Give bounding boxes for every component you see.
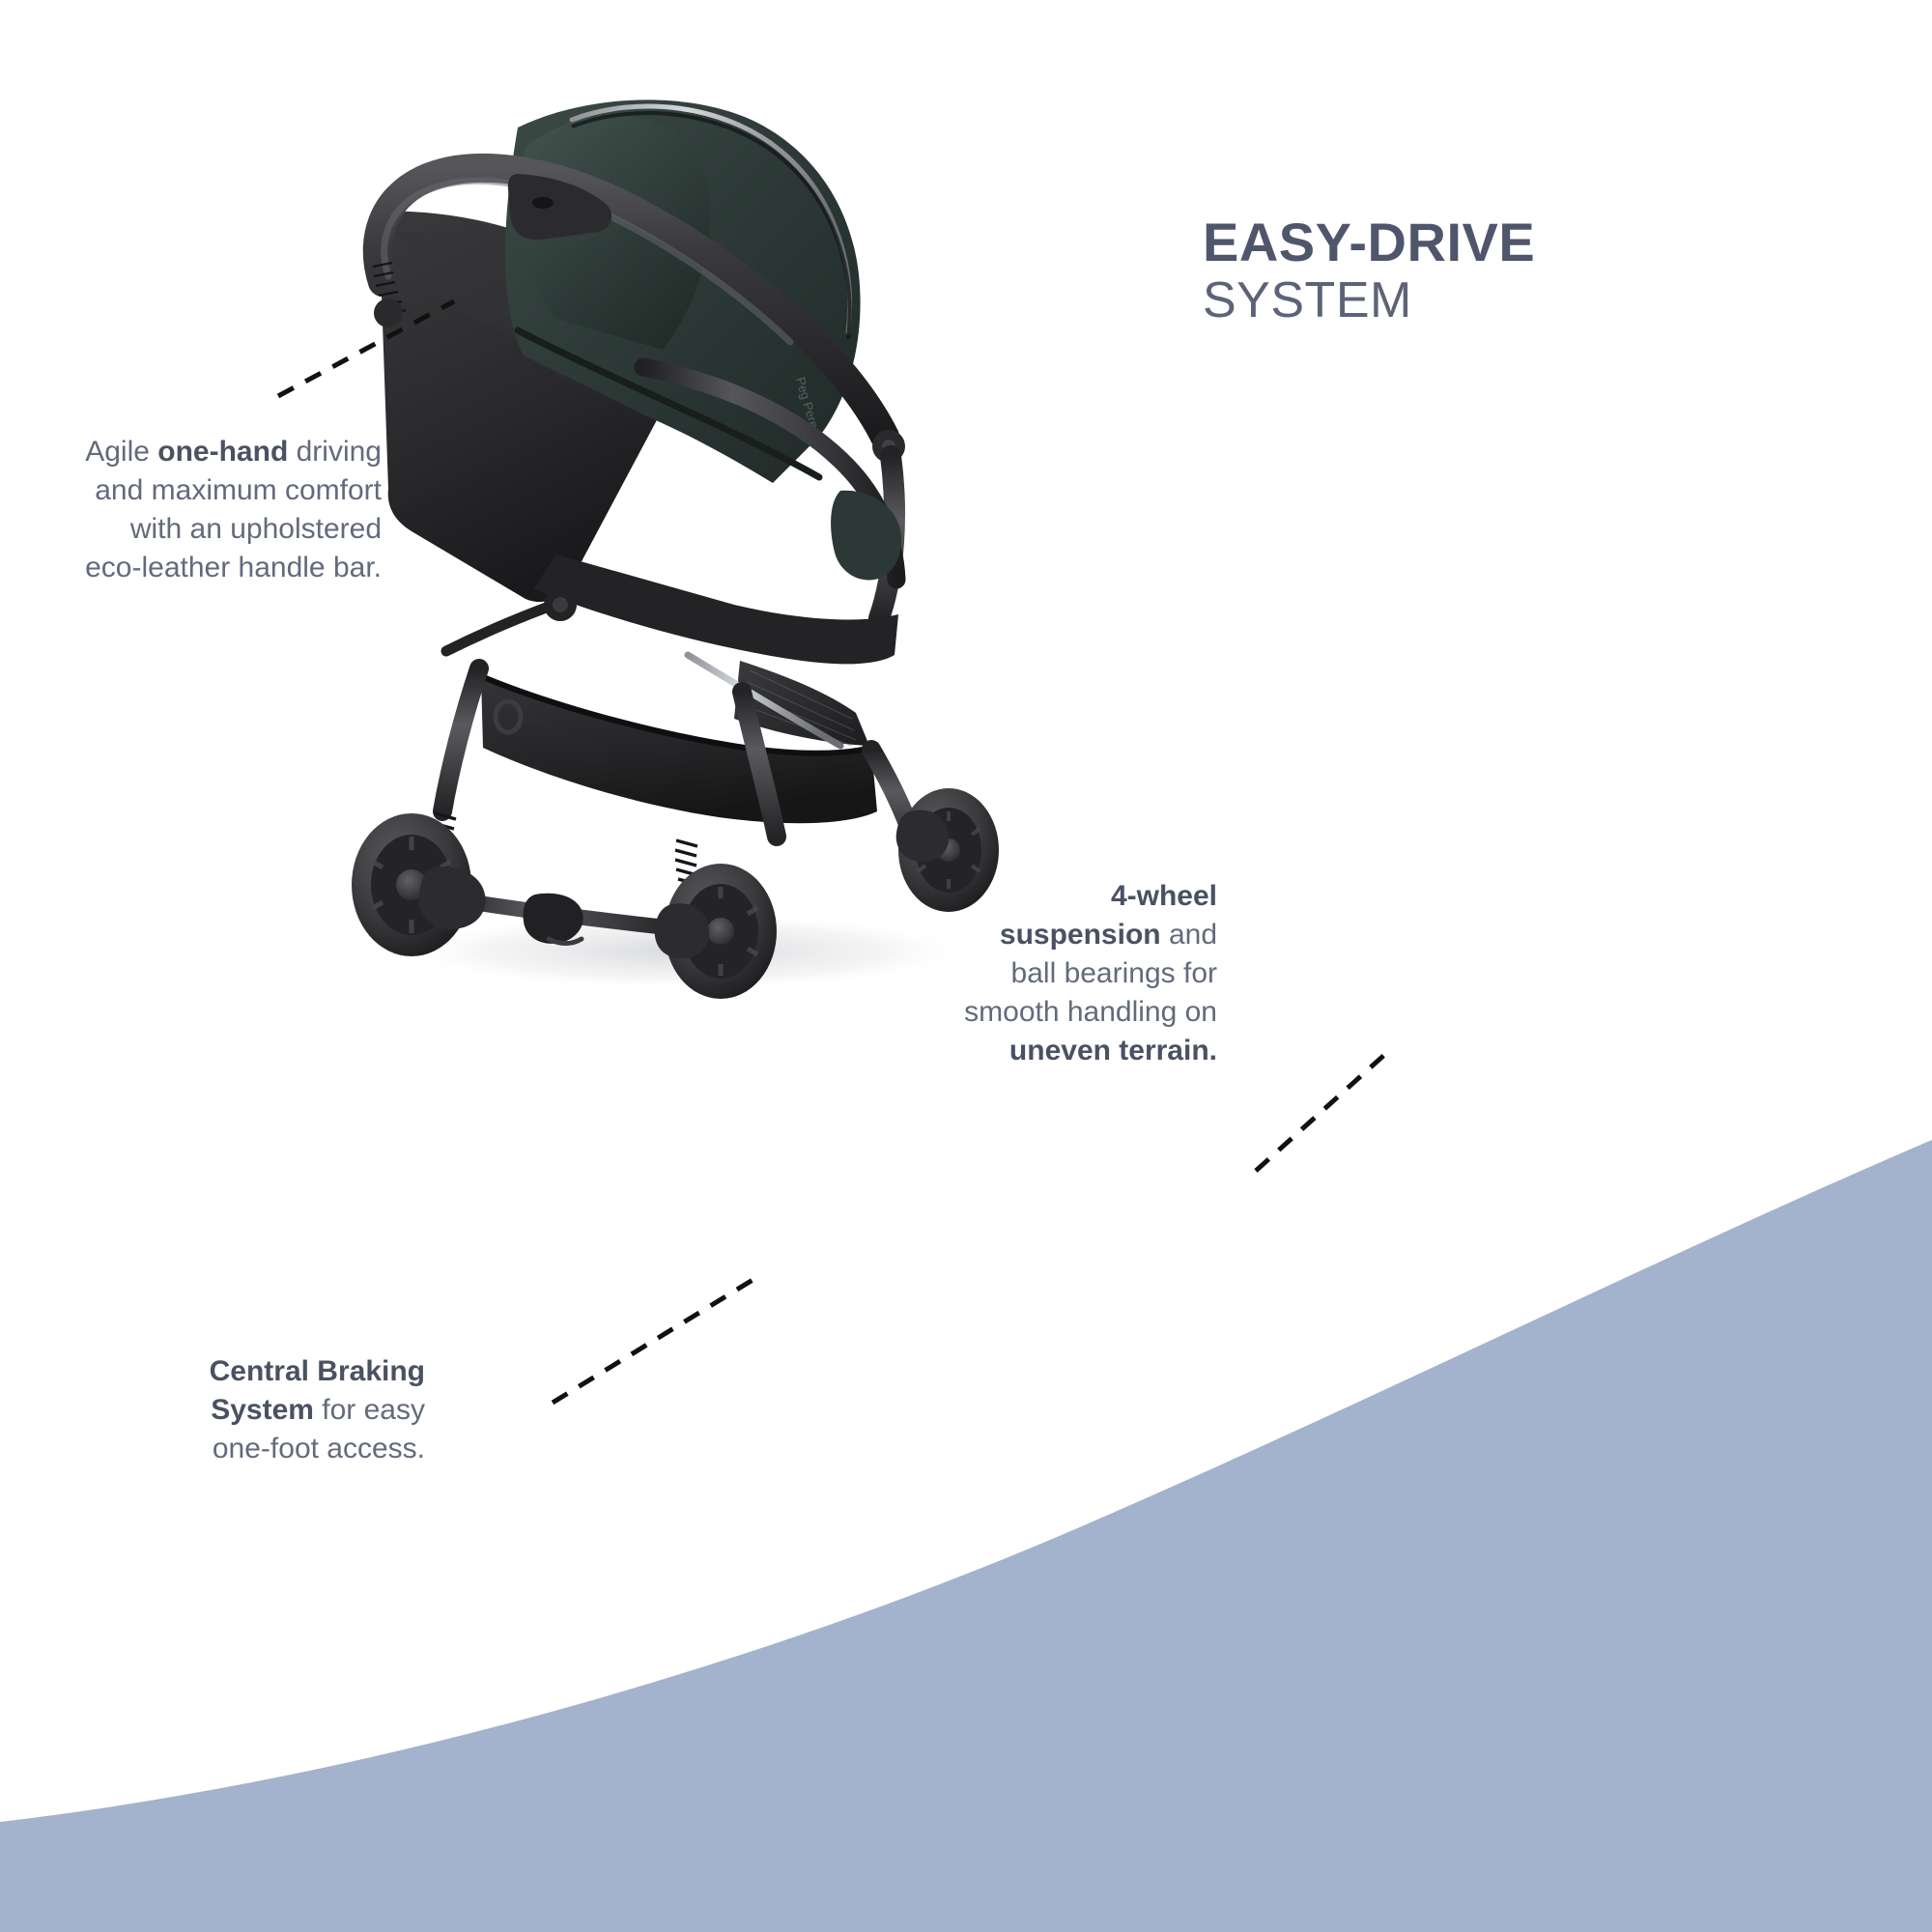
wheel-axle-housing-left	[419, 867, 486, 929]
infographic-canvas: Peg Perego	[0, 0, 1932, 1932]
callout-suspension: 4-wheel suspension and ball bearings for…	[952, 877, 1217, 1069]
recline-strut	[446, 607, 549, 651]
handle-release-button[interactable]	[532, 197, 554, 209]
recline-hinge-inner	[553, 597, 568, 612]
stroller-product-image: Peg Perego	[319, 77, 1053, 1043]
wheel-axle-housing-front	[655, 903, 709, 958]
title-line-secondary: SYSTEM	[1203, 274, 1535, 327]
title-line-primary: EASY-DRIVE	[1203, 214, 1535, 270]
decorative-wave	[0, 1140, 1932, 1932]
callout-handle-bar: Agile one-hand driving and maximum comfo…	[68, 433, 382, 587]
frame-leg-rear-left	[442, 668, 479, 811]
handle-joint-left	[374, 298, 403, 327]
seat-base-panel	[533, 554, 898, 664]
callout-emphasis: one-hand	[157, 436, 288, 468]
callout-emphasis: uneven terrain.	[1009, 1035, 1217, 1066]
callout-text: Agile	[85, 436, 157, 468]
page-title: EASY-DRIVE SYSTEM	[1203, 214, 1535, 327]
callout-central-brake: Central Braking System for easy one-foot…	[193, 1352, 425, 1468]
